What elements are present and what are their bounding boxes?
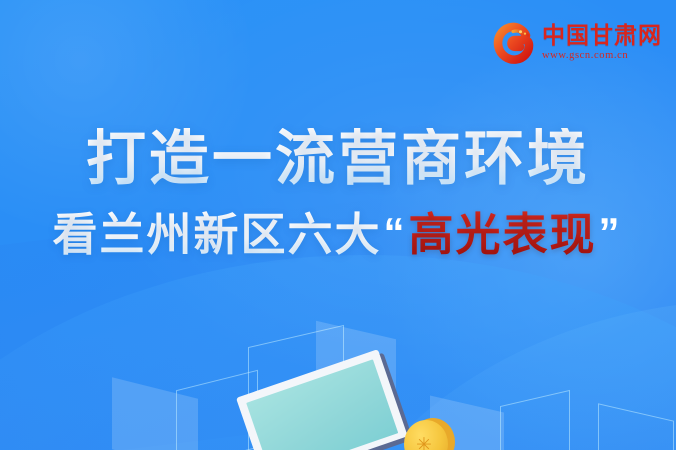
headline-block: 打造一流营商环境 看兰州新区六大“高光表现” bbox=[0, 128, 676, 258]
sub-title-highlight: 高光表现 bbox=[409, 209, 597, 260]
logo-site-name: 中国甘肃网 bbox=[542, 24, 662, 47]
panel-left-a bbox=[112, 377, 198, 450]
panel-right-b bbox=[500, 390, 570, 450]
sub-title: 看兰州新区六大“高光表现” bbox=[0, 211, 676, 258]
coin-edge bbox=[411, 418, 455, 450]
logo-site-url: www.gscn.com.cn bbox=[542, 51, 628, 62]
main-title: 打造一流营商环境 bbox=[0, 128, 676, 189]
monitor-shadow bbox=[241, 353, 413, 450]
coin-symbol-icon: ✳ bbox=[416, 436, 432, 450]
sub-title-prefix: 看兰州新区六大 bbox=[52, 209, 381, 260]
logo-text-block: 中国甘肃网 www.gscn.com.cn bbox=[542, 24, 662, 62]
promo-poster: ✳ bbox=[0, 0, 676, 450]
background-arc-lower bbox=[0, 255, 676, 450]
gold-coin-illustration: ✳ bbox=[404, 418, 456, 450]
panel-far-right bbox=[598, 403, 674, 450]
quote-open-mark: “ bbox=[382, 209, 409, 256]
panel-right-a bbox=[430, 395, 504, 450]
panel-mid-b bbox=[316, 321, 396, 443]
quote-close-mark: ” bbox=[597, 209, 624, 256]
monitor-screen bbox=[246, 359, 398, 450]
monitor-frame bbox=[236, 349, 408, 450]
panel-left-b bbox=[176, 370, 258, 450]
site-logo[interactable]: 中国甘肃网 www.gscn.com.cn bbox=[493, 22, 662, 64]
laptop-monitor-illustration bbox=[236, 349, 409, 450]
gansu-net-swirl-logo-icon bbox=[493, 22, 535, 64]
panel-mid-a bbox=[248, 325, 344, 450]
background-arc-right bbox=[300, 300, 676, 450]
coin-face: ✳ bbox=[404, 420, 448, 450]
